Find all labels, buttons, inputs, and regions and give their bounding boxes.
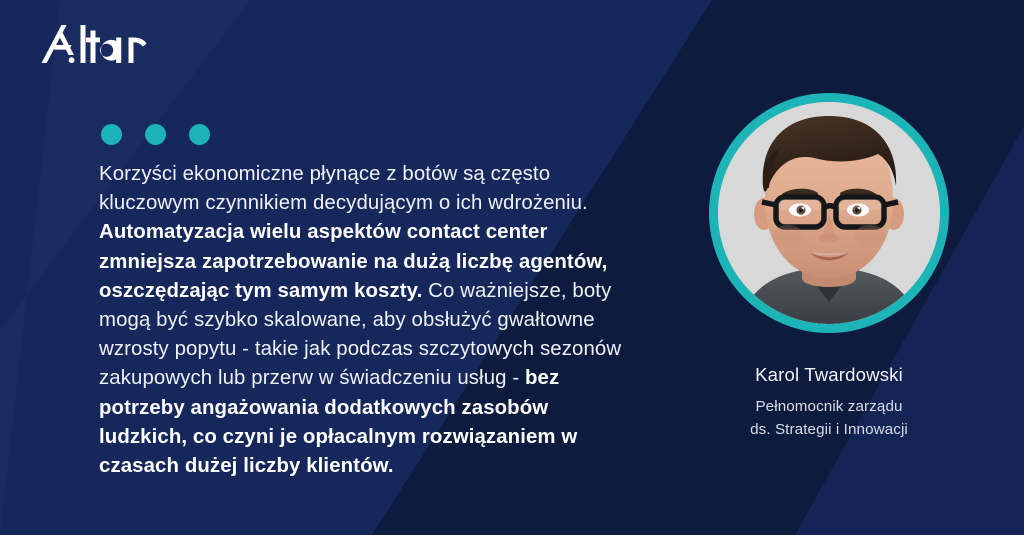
dot-2: [145, 124, 166, 145]
author-name: Karol Twardowski: [689, 363, 969, 387]
quote-text: Korzyści ekonomiczne płynące z botów są …: [99, 160, 629, 481]
avatar-ring: [709, 93, 949, 333]
quote-card: Korzyści ekonomiczne płynące z botów są …: [0, 0, 1024, 535]
avatar: [718, 102, 940, 324]
dot-3: [189, 124, 210, 145]
dot-1: [101, 124, 122, 145]
author-role-line-1: Pełnomocnik zarządu: [689, 396, 969, 419]
altar-logo[interactable]: [30, 20, 160, 68]
author-role: Pełnomocnik zarządu ds. Strategii i Inno…: [689, 396, 969, 441]
author-role-line-2: ds. Strategii i Innowacji: [689, 419, 969, 442]
author-caption: Karol Twardowski Pełnomocnik zarządu ds.…: [689, 363, 969, 441]
quote-segment-1: Korzyści ekonomiczne płynące z botów są …: [99, 163, 588, 214]
decorative-dots: [101, 124, 210, 145]
